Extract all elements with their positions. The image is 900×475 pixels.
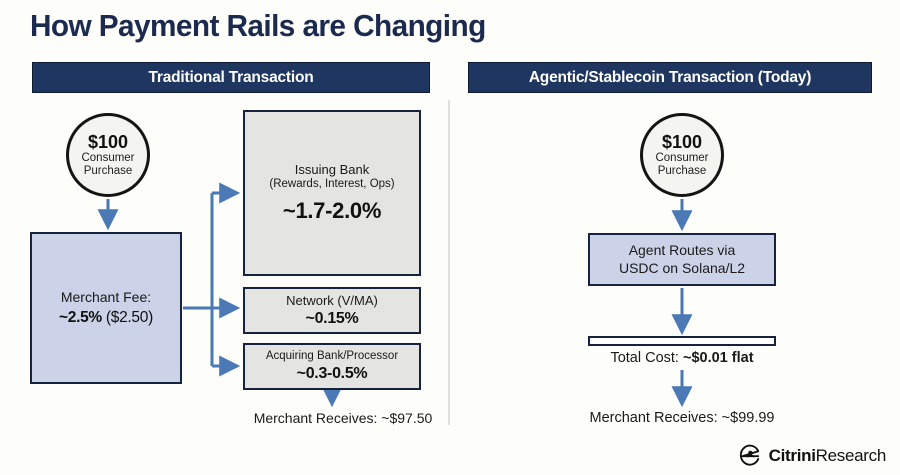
merchant-fee-value: ~2.5% ($2.50) [59, 309, 153, 328]
logo-text: CitriniResearch [769, 446, 886, 466]
page-title: How Payment Rails are Changing [30, 8, 486, 44]
merchant-fee-box: Merchant Fee: ~2.5% ($2.50) [30, 232, 182, 384]
panel-header-agentic: Agentic/Stablecoin Transaction (Today) [468, 62, 872, 93]
consumer-purchase-circle-left: $100 Consumer Purchase [66, 113, 150, 197]
amount-label: $100 [88, 132, 128, 152]
panel-header-traditional: Traditional Transaction [32, 62, 430, 93]
merchant-receives-left: Merchant Receives: ~$97.50 [233, 410, 453, 426]
citrini-e-icon [737, 443, 763, 469]
amount-label: $100 [662, 132, 702, 152]
acquiring-bank-value: ~0.3-0.5% [297, 364, 368, 383]
merchant-receives-right: Merchant Receives: ~$99.99 [570, 410, 794, 426]
agent-route-line1: Agent Routes via [629, 242, 736, 260]
issuing-bank-box: Issuing Bank (Rewards, Interest, Ops) ~1… [243, 110, 421, 276]
source-line1: Consumer [81, 152, 134, 165]
source-line1: Consumer [655, 152, 708, 165]
source-line2: Purchase [658, 165, 707, 178]
issuing-bank-detail: (Rewards, Interest, Ops) [269, 178, 394, 192]
merchant-fee-label: Merchant Fee: [61, 289, 151, 306]
source-line2: Purchase [84, 165, 133, 178]
total-cost-bar [588, 336, 776, 346]
citrini-research-logo: CitriniResearch [737, 443, 886, 469]
agent-route-line2: USDC on Solana/L2 [619, 260, 745, 278]
acquiring-bank-box: Acquiring Bank/Processor ~0.3-0.5% [243, 343, 421, 390]
issuing-bank-name: Issuing Bank [295, 162, 369, 178]
network-box: Network (V/MA) ~0.15% [243, 287, 421, 334]
total-cost-label: Total Cost: ~$0.01 flat [588, 350, 776, 366]
network-value: ~0.15% [306, 309, 359, 328]
issuing-bank-value: ~1.7-2.0% [283, 198, 381, 224]
network-name: Network (V/MA) [286, 293, 378, 309]
panel-divider [448, 100, 450, 425]
acquiring-bank-name: Acquiring Bank/Processor [266, 350, 398, 364]
agent-route-box: Agent Routes via USDC on Solana/L2 [588, 233, 776, 286]
consumer-purchase-circle-right: $100 Consumer Purchase [640, 113, 724, 197]
